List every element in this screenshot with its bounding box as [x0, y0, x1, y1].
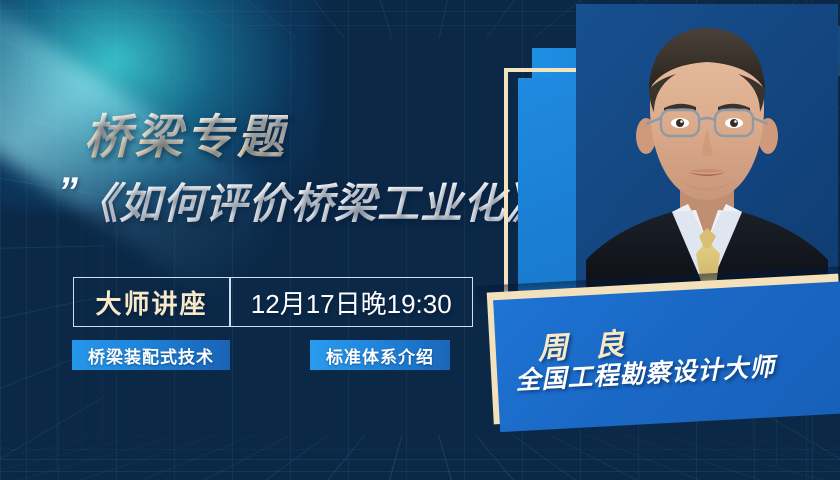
speaker-nameplate: 周 良 全国工程勘察设计大师 — [487, 274, 840, 425]
speaker-photo-illustration — [576, 4, 838, 294]
speaker-portrait-block: 周 良 全国工程勘察设计大师 — [480, 0, 840, 480]
grid-left-wall — [0, 0, 106, 480]
topic-tag: 桥梁装配式技术 — [72, 340, 230, 370]
quote-open-icon: ” — [58, 174, 74, 210]
lecture-poster: 桥梁专题 ” 《如何评价桥梁工业化》 „ 大师讲座 12月17日晚19:30 桥… — [0, 0, 840, 480]
topic-tag-list: 桥梁装配式技术 标准体系介绍 — [72, 340, 450, 370]
lecture-datetime: 12月17日晚19:30 — [231, 278, 473, 326]
topic-tag: 标准体系介绍 — [310, 340, 450, 370]
speaker-photo — [576, 4, 838, 294]
subtitle: 《如何评价桥梁工业化》 — [76, 170, 549, 231]
lecture-info-box: 大师讲座 12月17日晚19:30 — [73, 277, 473, 327]
nameplate-text: 周 良 全国工程勘察设计大师 — [493, 281, 840, 432]
page-title: 桥梁专题 — [84, 98, 288, 167]
lecture-type-label: 大师讲座 — [74, 278, 229, 326]
